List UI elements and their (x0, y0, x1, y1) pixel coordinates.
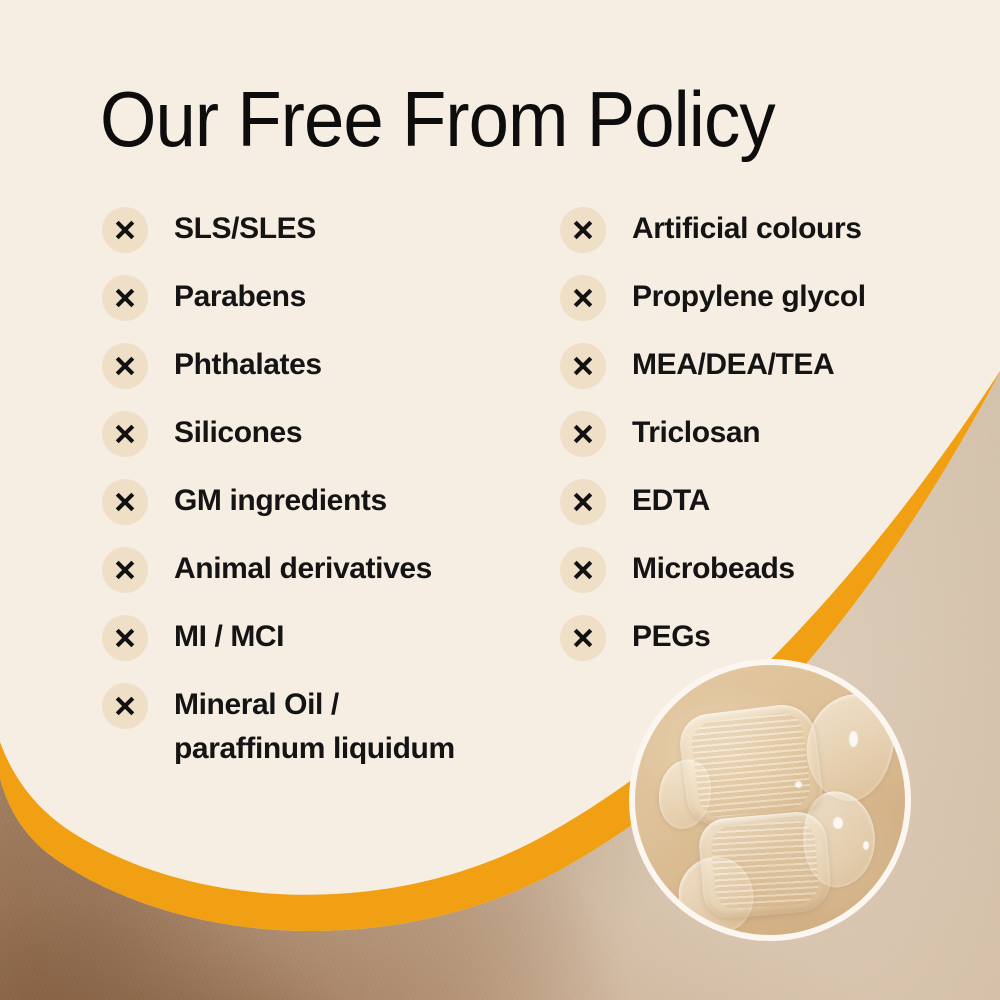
x-mark-icon (560, 411, 606, 457)
x-mark-icon (560, 615, 606, 661)
right-ingredient-column: Artificial colours Propylene glycol MEA/… (560, 206, 980, 682)
list-item: GM ingredients (102, 478, 542, 546)
x-mark-icon (102, 547, 148, 593)
list-item-label: MI / MCI (174, 614, 284, 660)
list-item: Mineral Oil / paraffinum liquidum (102, 682, 542, 771)
x-mark-icon (102, 615, 148, 661)
list-item: Animal derivatives (102, 546, 542, 614)
list-item: Silicones (102, 410, 542, 478)
list-item: Propylene glycol (560, 274, 980, 342)
gel-highlight (795, 781, 802, 788)
gel-ridge-texture (690, 711, 813, 820)
gel-swatch (697, 810, 833, 921)
x-mark-icon (560, 479, 606, 525)
list-item-label: Propylene glycol (632, 274, 866, 320)
list-item-label: Parabens (174, 274, 306, 320)
list-item-label: MEA/DEA/TEA (632, 342, 834, 388)
list-item-label: EDTA (632, 478, 710, 524)
x-mark-icon (560, 547, 606, 593)
x-mark-icon (102, 411, 148, 457)
list-item: MI / MCI (102, 614, 542, 682)
gel-ridge-texture (710, 819, 821, 912)
x-mark-icon (102, 275, 148, 321)
gel-highlight (833, 817, 843, 829)
list-item: Microbeads (560, 546, 980, 614)
x-mark-icon (560, 343, 606, 389)
x-mark-icon (102, 683, 148, 729)
list-item-label: Artificial colours (632, 206, 862, 252)
list-item: MEA/DEA/TEA (560, 342, 980, 410)
free-from-policy-graphic: Our Free From Policy SLS/SLES Parabens P (0, 0, 1000, 1000)
list-item-label: Phthalates (174, 342, 322, 388)
list-item-label: Mineral Oil / paraffinum liquidum (174, 682, 455, 771)
x-mark-icon (560, 207, 606, 253)
list-item-label: GM ingredients (174, 478, 387, 524)
gel-highlight (863, 841, 869, 850)
list-item: Triclosan (560, 410, 980, 478)
list-item: SLS/SLES (102, 206, 542, 274)
list-item-label: Triclosan (632, 410, 760, 456)
list-item: EDTA (560, 478, 980, 546)
list-item-label: Animal derivatives (174, 546, 432, 592)
gel-swatch (677, 701, 826, 829)
gel-highlight (849, 731, 858, 747)
product-texture-photo (629, 659, 911, 941)
left-ingredient-column: SLS/SLES Parabens Phthalates Silicones (102, 206, 542, 771)
list-item-label: SLS/SLES (174, 206, 316, 252)
x-mark-icon (102, 343, 148, 389)
x-mark-icon (102, 207, 148, 253)
x-mark-icon (560, 275, 606, 321)
list-item: Parabens (102, 274, 542, 342)
list-item: Phthalates (102, 342, 542, 410)
list-item-label: Silicones (174, 410, 302, 456)
list-item-label: PEGs (632, 614, 710, 660)
x-mark-icon (102, 479, 148, 525)
list-item-label: Microbeads (632, 546, 795, 592)
page-title: Our Free From Policy (100, 80, 775, 158)
list-item: Artificial colours (560, 206, 980, 274)
